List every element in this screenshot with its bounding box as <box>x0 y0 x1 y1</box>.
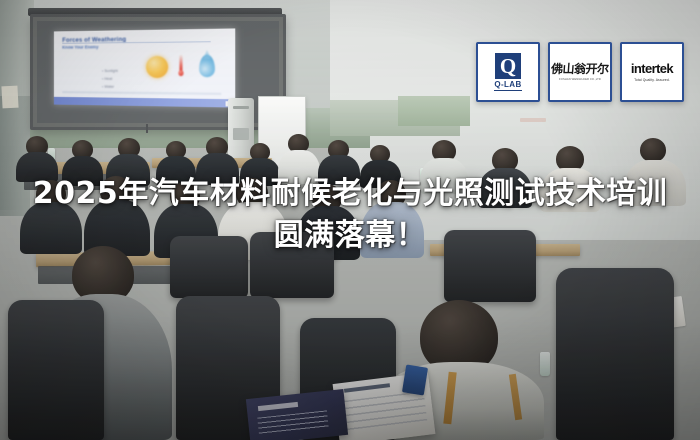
banner-headline: 2025年汽车材料耐候老化与光照测试技术培训 圆满落幕！ <box>0 176 700 254</box>
sun-icon <box>146 56 168 78</box>
slide-bullet-list: Sunlight Heat Water <box>64 68 118 92</box>
training-banner: Forces of Weathering Know Your Enemy Sun… <box>0 0 700 440</box>
headline-line-1: 2025年汽车材料耐候老化与光照测试技术培训 <box>10 176 690 212</box>
headline-line-2: 圆满落幕！ <box>10 218 690 254</box>
intertek-wordmark: intertek <box>631 62 673 76</box>
q-lab-mark-icon: Q <box>495 53 521 79</box>
presentation-slide: Forces of Weathering Know Your Enemy Sun… <box>54 28 235 107</box>
logo-card-wengkaier: 佛山翁开尔 FOSHAN WENGKAIER CO.,LTD <box>548 42 612 102</box>
wall-mark <box>520 118 546 122</box>
chair <box>8 300 104 440</box>
logo-card-intertek: intertek Total Quality. Assured. <box>620 42 684 102</box>
slide-bullet: Water <box>102 84 118 89</box>
wall-poster <box>1 86 18 109</box>
slide-bullet: Heat <box>102 76 118 81</box>
right-board-sliver <box>398 96 470 126</box>
slide-footnote <box>62 92 221 95</box>
logo-card-qlab: Q Q-LAB <box>476 42 540 102</box>
sponsor-logo-bar: Q Q-LAB 佛山翁开尔 FOSHAN WENGKAIER CO.,LTD i… <box>476 42 684 102</box>
slide-subtitle: Know Your Enemy <box>62 44 98 49</box>
q-lab-letter: Q <box>500 56 516 76</box>
thermometer-icon <box>178 55 183 79</box>
wengkaier-logo: 佛山翁开尔 FOSHAN WENGKAIER CO.,LTD <box>551 63 609 81</box>
water-bottle <box>540 352 550 376</box>
slide-bullet: Sunlight <box>102 68 118 73</box>
water-drop-icon <box>199 55 215 78</box>
lanyard-badge <box>402 364 428 395</box>
intertek-logo: intertek Total Quality. Assured. <box>631 62 673 82</box>
chair <box>556 268 674 440</box>
q-lab-logo: Q Q-LAB <box>494 53 521 91</box>
q-lab-wordmark: Q-LAB <box>494 80 521 91</box>
wengkaier-subtext: FOSHAN WENGKAIER CO.,LTD <box>559 78 601 81</box>
slide-footer-bar <box>54 97 235 108</box>
wengkaier-wordmark: 佛山翁开尔 <box>551 63 609 76</box>
screen-pull-cord <box>146 124 148 133</box>
intertek-tagline: Total Quality. Assured. <box>634 78 670 82</box>
